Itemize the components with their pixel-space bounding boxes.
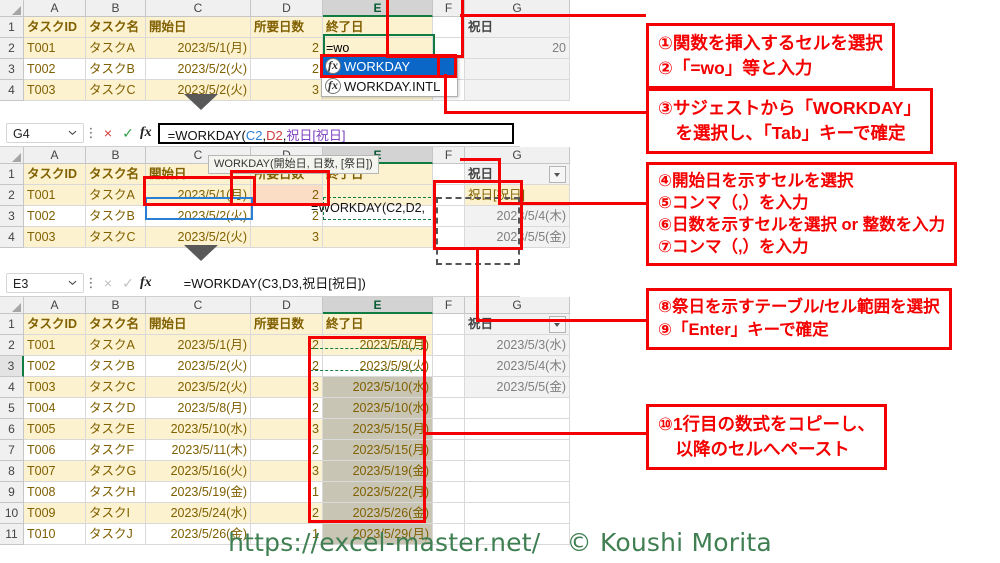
cell-g3[interactable]	[465, 59, 570, 80]
cell-c3[interactable]: 2023/5/2(火)	[146, 206, 251, 227]
cell-b3[interactable]: タスクB	[86, 206, 146, 227]
callout-line: ⑩1行目の数式をコピーし、	[658, 412, 875, 437]
cell-f3[interactable]	[433, 356, 465, 377]
callout-step-4-7: ④開始日を示すセルを選択 ⑤コンマ（,）を入力 ⑥日数を示すセルを選択 or 整…	[646, 162, 957, 266]
name-box-2[interactable]: G4	[6, 123, 84, 143]
more-options-icon[interactable]: ⋮	[84, 123, 98, 143]
table-row: 4T003タスクC2023/5/2(火)32023/5/10(水)2023/5/…	[0, 377, 520, 398]
insert-function-icon[interactable]: fx	[138, 125, 158, 141]
cell-a5[interactable]: T004	[24, 398, 86, 419]
connector-line-4-h	[500, 202, 646, 205]
column-header-d[interactable]: D	[251, 0, 323, 17]
formula-ref-c2: C2	[246, 128, 263, 143]
row-header-2[interactable]: 2	[0, 38, 24, 59]
table-row: 3T002タスクB2023/5/2(火)22023/5/9(火)2023/5/4…	[0, 356, 520, 377]
column-header-g[interactable]: G	[465, 297, 570, 314]
highlight-duration-cell	[230, 170, 330, 206]
cell-e4[interactable]	[323, 227, 433, 248]
connector-line-1	[460, 14, 646, 17]
row-header-3[interactable]: 3	[0, 356, 24, 377]
suggestion-label: WORKDAY.INTL	[344, 79, 440, 94]
cell-a4[interactable]: T003	[24, 227, 86, 248]
cell-b4[interactable]: タスクC	[86, 227, 146, 248]
cell-c10[interactable]: 2023/5/24(水)	[146, 503, 251, 524]
cell-a4[interactable]: T003	[24, 377, 86, 398]
cell-g7[interactable]	[465, 440, 570, 461]
header-task-name: タスク名	[86, 164, 146, 185]
chevron-down-icon[interactable]	[68, 128, 77, 137]
confirm-formula-icon[interactable]: ✓	[118, 123, 138, 143]
callout-line: ①関数を挿入するセルを選択	[658, 31, 883, 56]
chevron-down-icon[interactable]	[68, 278, 77, 287]
column-header-f[interactable]: F	[433, 297, 465, 314]
row-header-4[interactable]: 4	[0, 80, 24, 101]
cell-g9[interactable]	[465, 482, 570, 503]
cell-g10[interactable]	[465, 503, 570, 524]
cell-c9[interactable]: 2023/5/19(金)	[146, 482, 251, 503]
row-header-9[interactable]: 9	[0, 482, 24, 503]
formula-ref-holiday: 祝日[祝日]	[286, 128, 345, 143]
callout-line: ⑧祭日を示すテーブル/セル範囲を選択	[658, 296, 940, 319]
callout-line: を選択し、「Tab」キーで確定	[658, 121, 921, 146]
column-header-a[interactable]: A	[24, 0, 86, 17]
cell-f10[interactable]	[433, 503, 465, 524]
row-header-8[interactable]: 8	[0, 461, 24, 482]
cell-g6[interactable]	[465, 419, 570, 440]
cell-g2[interactable]: 20	[465, 38, 570, 59]
cell-a6[interactable]: T005	[24, 419, 86, 440]
cell-b2[interactable]: タスクA	[86, 38, 146, 59]
row-header-3[interactable]: 3	[0, 59, 24, 80]
suggestion-workday-intl[interactable]: fx WORKDAY.INTL	[322, 76, 457, 96]
cell-c4[interactable]: 2023/5/2(火)	[146, 377, 251, 398]
cell-d4[interactable]: 3	[251, 80, 323, 101]
table-header-row: 1 タスクID タスク名 開始日 所要日数 終了日 祝日	[0, 314, 520, 335]
cell-c5[interactable]: 2023/5/8(月)	[146, 398, 251, 419]
row-header-2[interactable]: 2	[0, 185, 24, 206]
formula-bar-2: G4 ⋮ × ✓ fx =WORKDAY(C2,D2,祝日[祝日]	[0, 120, 520, 147]
cell-a10[interactable]: T009	[24, 503, 86, 524]
cell-c7[interactable]: 2023/5/11(木)	[146, 440, 251, 461]
header-holiday: 祝日	[465, 314, 570, 335]
callout-line: ②「=wo」等と入力	[658, 56, 883, 81]
cell-c2[interactable]: 2023/5/1(月)	[146, 38, 251, 59]
cell-a2[interactable]: T001	[24, 38, 86, 59]
cell-b9[interactable]: タスクH	[86, 482, 146, 503]
callout-line: ⑥日数を示すセルを選択 or 整数を入力	[658, 214, 945, 236]
row-header-2[interactable]: 2	[0, 335, 24, 356]
header-task-id: タスクID	[24, 164, 86, 185]
select-all-corner[interactable]	[0, 0, 24, 17]
callout-step-3: ③サジェストから「WORKDAY」 を選択し、「Tab」キーで確定	[646, 88, 933, 154]
table-row: 7T006タスクF2023/5/11(木)22023/5/15(月)	[0, 440, 520, 461]
column-header-c[interactable]: C	[146, 297, 251, 314]
table-row: 10T009タスクI2023/5/24(水)22023/5/26(金)	[0, 503, 520, 524]
cell-b2[interactable]: タスクA	[86, 185, 146, 206]
cell-f8[interactable]	[433, 461, 465, 482]
header-start-date: 開始日	[146, 314, 251, 335]
column-header-row: A B C D E F G	[0, 297, 520, 314]
callout-line: ③サジェストから「WORKDAY」	[658, 96, 921, 121]
connector-line-4-stub	[498, 158, 501, 205]
cell-c3[interactable]: 2023/5/2(火)	[146, 356, 251, 377]
connector-line-3-h	[444, 111, 646, 114]
name-box-value: E3	[13, 277, 28, 291]
cell-b3[interactable]: タスクB	[86, 59, 146, 80]
row-header-6[interactable]: 6	[0, 419, 24, 440]
highlight-result-column	[308, 336, 426, 523]
connector-line-4-top	[460, 158, 500, 161]
highlight-holiday-range-2	[433, 180, 523, 250]
cell-a7[interactable]: T006	[24, 440, 86, 461]
connector-line-3-v	[444, 74, 447, 114]
header-task-id: タスクID	[24, 314, 86, 335]
table-row: 5T004タスクD2023/5/8(月)22023/5/10(水)	[0, 398, 520, 419]
row-header-7[interactable]: 7	[0, 440, 24, 461]
row-header-1[interactable]: 1	[0, 17, 24, 38]
header-duration: 所要日数	[251, 17, 323, 38]
callout-line: ⑨「Enter」キーで確定	[658, 319, 940, 342]
cell-f2[interactable]	[433, 335, 465, 356]
header-task-id: タスクID	[24, 17, 86, 38]
cell-a3[interactable]: T002	[24, 206, 86, 227]
highlight-target-cell-e2	[386, 0, 464, 58]
cell-c2[interactable]: 2023/5/1(月)	[146, 335, 251, 356]
footer-copyright: © Koushi Morita	[567, 528, 772, 557]
header-start-date: 開始日	[146, 17, 251, 38]
callout-step-8-9: ⑧祭日を示すテーブル/セル範囲を選択 ⑨「Enter」キーで確定	[646, 288, 952, 350]
header-task-name: タスク名	[86, 17, 146, 38]
flow-arrow-down-1	[184, 94, 218, 110]
select-all-corner[interactable]	[0, 147, 24, 164]
row-header-1[interactable]: 1	[0, 314, 24, 335]
formula-ref-d2: D2	[266, 128, 283, 143]
cell-g3[interactable]: 2023/5/4(木)	[465, 356, 570, 377]
cell-f4[interactable]	[433, 377, 465, 398]
cell-f7[interactable]	[433, 440, 465, 461]
table-row: 9T008タスクH2023/5/19(金)12023/5/22(月)	[0, 482, 520, 503]
cancel-formula-icon[interactable]: ×	[98, 123, 118, 143]
function-fx-icon: fx	[325, 78, 341, 94]
formula-bar-3: E3 ⋮ × ✓ fx =WORKDAY(C3,D3,祝日[祝日])	[0, 270, 520, 297]
cell-g2[interactable]: 2023/5/3(水)	[465, 335, 570, 356]
cell-g4[interactable]	[465, 80, 570, 101]
cell-a2[interactable]: T001	[24, 185, 86, 206]
cell-b6[interactable]: タスクE	[86, 419, 146, 440]
callout-step-1-2: ①関数を挿入するセルを選択 ②「=wo」等と入力	[646, 23, 895, 89]
confirm-formula-icon[interactable]: ✓	[118, 273, 138, 293]
cell-a2[interactable]: T001	[24, 335, 86, 356]
cell-g5[interactable]	[465, 398, 570, 419]
table-row: 2T001タスクA2023/5/1(月)22023/5/8(月)2023/5/3…	[0, 335, 520, 356]
column-header-b[interactable]: B	[86, 147, 146, 164]
header-holiday-label: 祝日	[468, 314, 493, 334]
cell-d4[interactable]: 3	[251, 227, 323, 248]
table-body-3: 2T001タスクA2023/5/1(月)22023/5/8(月)2023/5/3…	[0, 335, 520, 545]
header-holiday: 祝日	[465, 17, 570, 38]
cell-b10[interactable]: タスクI	[86, 503, 146, 524]
callout-step-10: ⑩1行目の数式をコピーし、 以降のセルへペースト	[646, 404, 887, 470]
select-all-corner[interactable]	[0, 297, 24, 314]
header-end-date: 終了日	[323, 314, 433, 335]
row-header-5[interactable]: 5	[0, 398, 24, 419]
column-header-a[interactable]: A	[24, 147, 86, 164]
column-header-g[interactable]: G	[465, 147, 570, 164]
cell-g8[interactable]	[465, 461, 570, 482]
formula-input-3[interactable]: =WORKDAY(C3,D3,祝日[祝日])	[158, 273, 520, 294]
row-header-4[interactable]: 4	[0, 377, 24, 398]
footer-url[interactable]: https://excel-master.net/	[228, 528, 540, 557]
cell-c8[interactable]: 2023/5/16(火)	[146, 461, 251, 482]
row-header-4[interactable]: 4	[0, 227, 24, 248]
formula-input-2[interactable]: =WORKDAY(C2,D2,祝日[祝日]	[158, 123, 514, 144]
cell-b4[interactable]: タスクC	[86, 80, 146, 101]
column-header-a[interactable]: A	[24, 297, 86, 314]
spreadsheet-panel-3: E3 ⋮ × ✓ fx =WORKDAY(C3,D3,祝日[祝日]) A B C…	[0, 270, 520, 545]
header-task-name: タスク名	[86, 314, 146, 335]
column-header-d[interactable]: D	[251, 297, 323, 314]
cell-a9[interactable]: T008	[24, 482, 86, 503]
cell-a4[interactable]: T003	[24, 80, 86, 101]
connector-line-8-h	[476, 319, 646, 322]
cell-a3[interactable]: T002	[24, 59, 86, 80]
cell-b5[interactable]: タスクD	[86, 398, 146, 419]
row-header-3[interactable]: 3	[0, 206, 24, 227]
highlight-suggestion-workday-wide	[320, 54, 457, 78]
cell-c6[interactable]: 2023/5/10(水)	[146, 419, 251, 440]
cell-d2[interactable]: 2	[251, 38, 323, 59]
cell-f9[interactable]	[433, 482, 465, 503]
connector-line-10-h	[423, 432, 646, 435]
cell-f1[interactable]	[433, 314, 465, 335]
callout-line: ④開始日を示すセルを選択	[658, 170, 945, 192]
column-header-f[interactable]: F	[433, 147, 465, 164]
cell-c3[interactable]: 2023/5/2(火)	[146, 59, 251, 80]
callout-line: ⑦コンマ（,）を入力	[658, 236, 945, 258]
cell-f5[interactable]	[433, 398, 465, 419]
cell-b7[interactable]: タスクF	[86, 440, 146, 461]
cell-g4[interactable]: 2023/5/5(金)	[465, 377, 570, 398]
cell-b8[interactable]: タスクG	[86, 461, 146, 482]
slide-canvas: A B C D E F G 1 タスクID タスク名 開始日 所要日数 終了日 …	[0, 0, 1000, 563]
more-options-icon[interactable]: ⋮	[84, 273, 98, 293]
row-header-1[interactable]: 1	[0, 164, 24, 185]
table-row: 8T007タスクG2023/5/16(火)32023/5/19(金)	[0, 461, 520, 482]
name-box-3[interactable]: E3	[6, 273, 84, 293]
name-box-value: G4	[13, 127, 30, 141]
cell-b3[interactable]: タスクB	[86, 356, 146, 377]
column-header-e[interactable]: E	[323, 297, 433, 314]
cell-b2[interactable]: タスクA	[86, 335, 146, 356]
callout-line: 以降のセルへペースト	[658, 437, 875, 462]
cell-b4[interactable]: タスクC	[86, 377, 146, 398]
insert-function-icon[interactable]: fx	[138, 275, 158, 291]
table-row: 6T005タスクE2023/5/10(水)32023/5/15(月)	[0, 419, 520, 440]
cell-a8[interactable]: T007	[24, 461, 86, 482]
footer-credit: https://excel-master.net/ © Koushi Morit…	[0, 528, 1000, 557]
cell-f6[interactable]	[433, 419, 465, 440]
callout-line: ⑤コンマ（,）を入力	[658, 192, 945, 214]
header-duration: 所要日数	[251, 314, 323, 335]
connector-line-8-v	[476, 248, 479, 322]
column-header-b[interactable]: B	[86, 0, 146, 17]
cell-a3[interactable]: T002	[24, 356, 86, 377]
cell-d3[interactable]: 2	[251, 59, 323, 80]
column-header-b[interactable]: B	[86, 297, 146, 314]
column-header-c[interactable]: C	[146, 0, 251, 17]
flow-arrow-down-2	[184, 245, 218, 261]
row-header-10[interactable]: 10	[0, 503, 24, 524]
filter-dropdown-icon[interactable]	[549, 166, 566, 183]
cancel-formula-icon[interactable]: ×	[98, 273, 118, 293]
